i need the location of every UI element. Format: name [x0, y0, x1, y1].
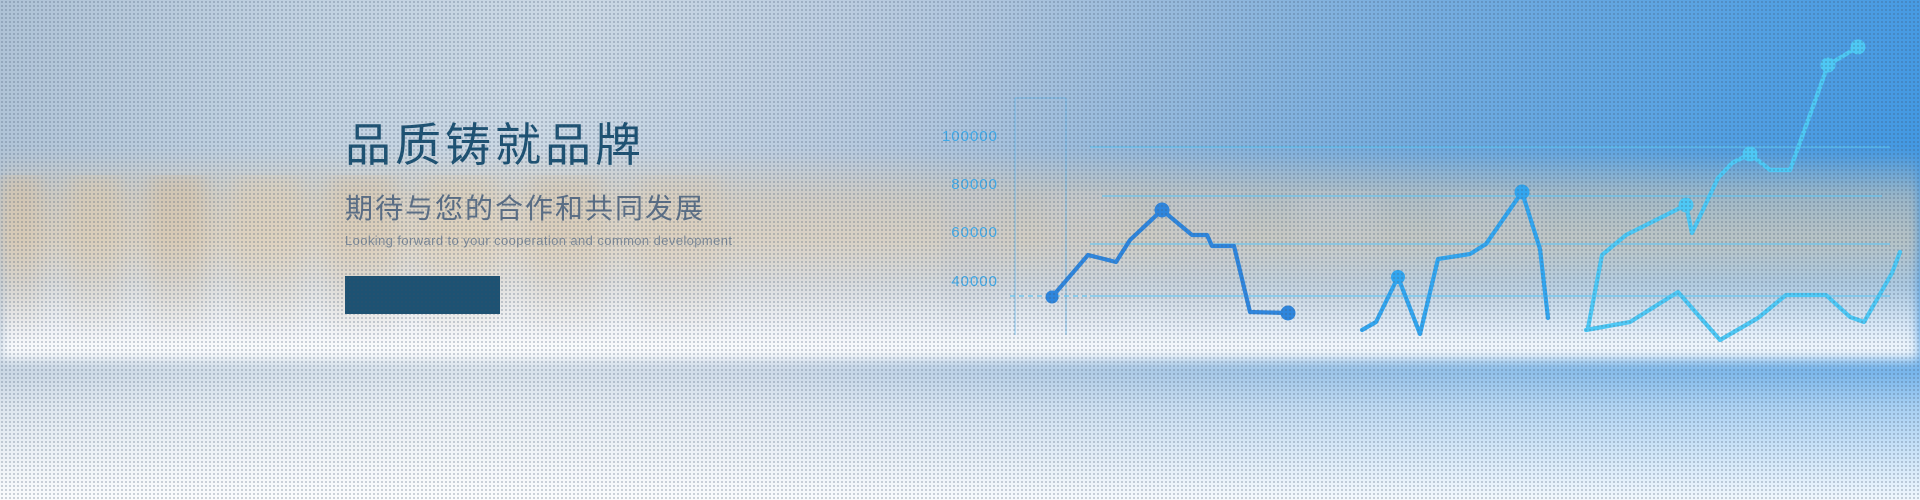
series-2-line — [1362, 192, 1548, 334]
line-chart: 100000 80000 60000 40000 — [930, 0, 1920, 500]
axis-frame — [1015, 98, 1066, 335]
banner-copy: 品质铸就品牌 期待与您的合作和共同发展 Looking forward to y… — [345, 120, 865, 314]
series-3-line — [1588, 47, 1858, 328]
hero-banner: 100000 80000 60000 40000 — [0, 0, 1920, 500]
series-2-markers — [1391, 185, 1530, 285]
y-axis-label-80000: 80000 — [920, 176, 998, 193]
banner-tagline: Looking forward to your cooperation and … — [345, 233, 865, 249]
page-title: 品质铸就品牌 — [345, 120, 865, 171]
y-axis-label-40000: 40000 — [920, 273, 998, 290]
cta-button[interactable] — [345, 276, 500, 314]
y-axis-label-100000: 100000 — [920, 128, 998, 145]
y-axis-label-60000: 60000 — [920, 224, 998, 241]
banner-subheading: 期待与您的合作和共同发展 — [345, 193, 865, 225]
series-3-markers — [1679, 40, 1866, 213]
chart-svg — [930, 0, 1920, 500]
series-1-line — [1052, 210, 1288, 313]
